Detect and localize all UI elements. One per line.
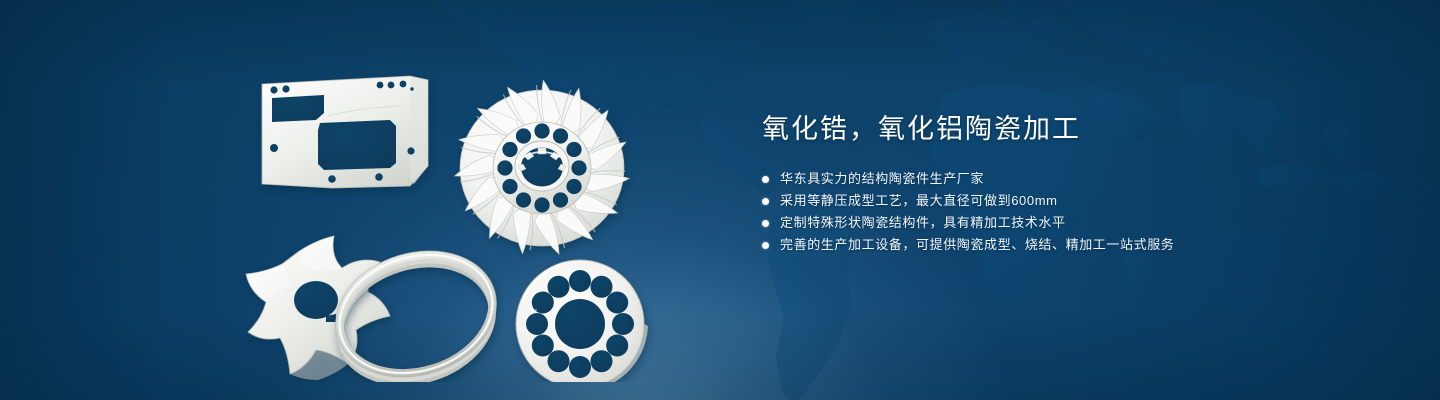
bullet-dot-icon	[762, 220, 769, 227]
ceramic-ring-shape	[320, 232, 513, 382]
bullet-text: 采用等静压成型工艺，最大直径可做到600mm	[780, 190, 1058, 212]
ceramic-base-plate-shape	[262, 76, 428, 188]
banner-copy-block: 氧化锆，氧化铝陶瓷加工 华东具实力的结构陶瓷件生产厂家 采用等静压成型工艺，最大…	[762, 112, 1382, 256]
feature-bullet-list: 华东具实力的结构陶瓷件生产厂家 采用等静压成型工艺，最大直径可做到600mm 定…	[762, 168, 1382, 256]
ceramic-product-banner: 氧化锆，氧化铝陶瓷加工 华东具实力的结构陶瓷件生产厂家 采用等静压成型工艺，最大…	[0, 0, 1440, 400]
ceramic-impeller-shape	[454, 80, 629, 254]
list-item: 华东具实力的结构陶瓷件生产厂家	[762, 168, 1382, 190]
list-item: 定制特殊形状陶瓷结构件，具有精加工技术水平	[762, 212, 1382, 234]
ceramic-hole-disc-shape	[516, 260, 648, 382]
page-title: 氧化锆，氧化铝陶瓷加工	[762, 112, 1382, 146]
bullet-dot-icon	[762, 176, 769, 183]
bullet-dot-icon	[762, 242, 769, 249]
ceramic-products-image	[232, 38, 688, 382]
bullet-text: 华东具实力的结构陶瓷件生产厂家	[780, 168, 984, 190]
bullet-dot-icon	[762, 198, 769, 205]
list-item: 采用等静压成型工艺，最大直径可做到600mm	[762, 190, 1382, 212]
bullet-text: 完善的生产加工设备，可提供陶瓷成型、烧结、精加工一站式服务	[780, 234, 1174, 256]
list-item: 完善的生产加工设备，可提供陶瓷成型、烧结、精加工一站式服务	[762, 234, 1382, 256]
bullet-text: 定制特殊形状陶瓷结构件，具有精加工技术水平	[780, 212, 1066, 234]
ceramic-cross-part-shape	[246, 236, 390, 380]
